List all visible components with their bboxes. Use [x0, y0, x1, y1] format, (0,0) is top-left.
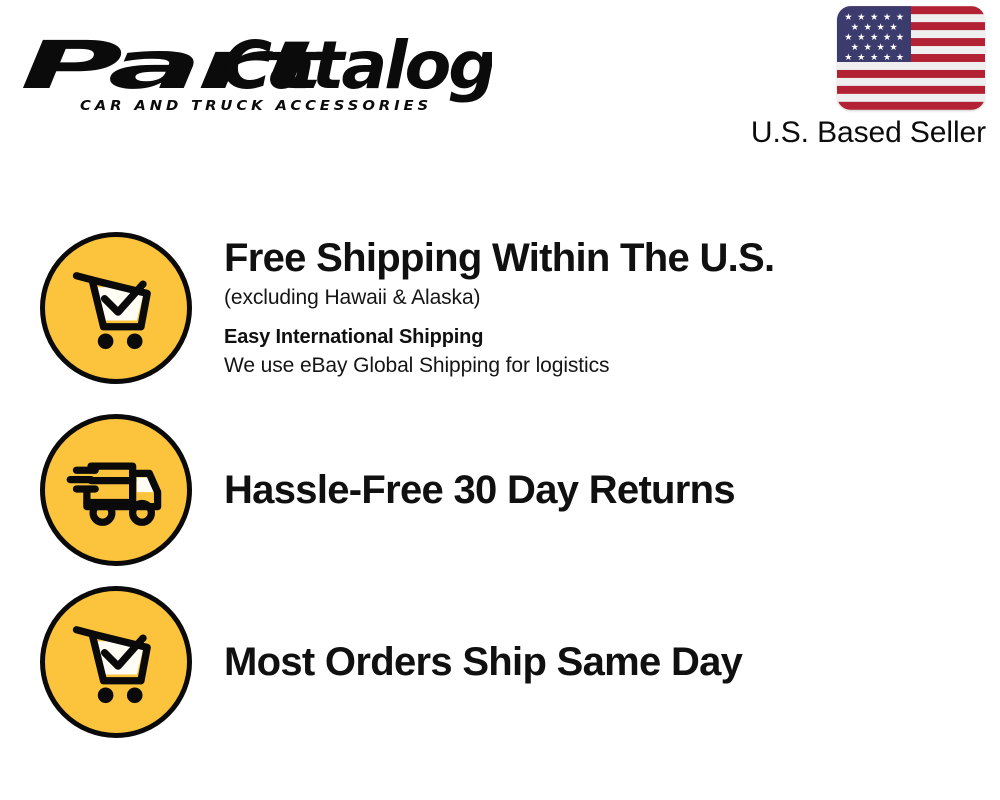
feature-subtitle: (excluding Hawaii & Alaska)	[224, 285, 1000, 311]
seller-badge: U.S. Based Seller	[726, 6, 988, 149]
brand-logo: Part Catalog CAR AND TRUCK ACCESSORIES	[22, 22, 492, 114]
feature-sub-heading: Easy International Shipping	[224, 325, 1000, 350]
promo-banner: Part Catalog CAR AND TRUCK ACCESSORIES	[0, 0, 1000, 800]
shopping-cart-check-icon	[40, 586, 192, 738]
feature-title: Most Orders Ship Same Day	[224, 640, 1000, 685]
feature-row: Most Orders Ship Same Day	[0, 576, 1000, 748]
delivery-truck-icon	[40, 414, 192, 566]
logo-tagline: CAR AND TRUCK ACCESSORIES	[80, 99, 432, 114]
feature-row: Free Shipping Within The U.S. (excluding…	[0, 232, 1000, 404]
feature-text-block: Most Orders Ship Same Day	[192, 640, 1000, 685]
seller-badge-label: U.S. Based Seller	[726, 116, 988, 149]
feature-sub-text: We use eBay Global Shipping for logistic…	[224, 352, 1000, 379]
feature-text-block: Free Shipping Within The U.S. (excluding…	[192, 232, 1000, 379]
feature-row: Hassle-Free 30 Day Returns	[0, 404, 1000, 576]
shopping-cart-check-icon	[40, 232, 192, 384]
feature-title: Hassle-Free 30 Day Returns	[224, 468, 1000, 513]
us-flag-icon	[837, 6, 985, 110]
features-list: Free Shipping Within The U.S. (excluding…	[0, 232, 1000, 748]
feature-text-block: Hassle-Free 30 Day Returns	[192, 468, 1000, 513]
feature-title: Free Shipping Within The U.S.	[224, 236, 1000, 281]
logo-wordmark-catalog: Catalog	[222, 27, 492, 104]
